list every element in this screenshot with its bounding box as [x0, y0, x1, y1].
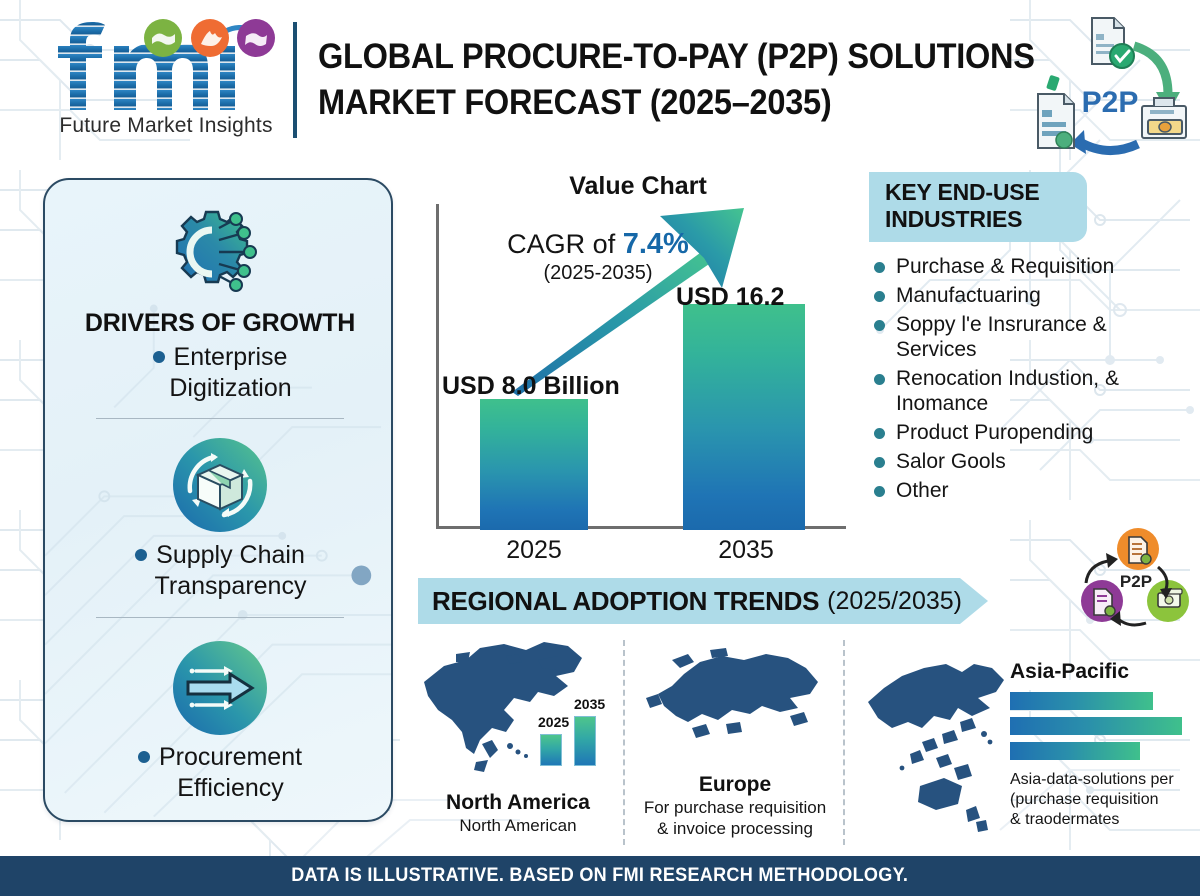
industries-list: Purchase & Requisition Manufactuaring So…	[874, 254, 1160, 503]
asia-pacific-map-icon	[858, 646, 1028, 836]
industries-heading: KEY END-USE INDUSTRIES	[869, 172, 1087, 242]
list-item: Other	[874, 478, 1160, 503]
region-name: Europe	[640, 773, 830, 797]
bar-2025[interactable]	[480, 399, 588, 530]
panel-separator-2	[843, 640, 845, 845]
package-cycle-icon	[170, 435, 270, 535]
list-item: Salor Gools	[874, 449, 1160, 474]
regional-panels: 2025 2035 North America North American	[418, 636, 1200, 851]
value-chart: Value Chart CAGR of 7.4% (2025-2035) USD…	[418, 172, 858, 572]
region-desc-line1: Asia-data-solutions per	[1010, 770, 1200, 790]
regional-adoption-banner: REGIONAL ADOPTION TRENDS (2025/2035)	[418, 578, 988, 624]
driver-icon-0	[45, 204, 393, 305]
driver-icon-1	[45, 435, 393, 540]
cash-icon-small	[1158, 589, 1182, 607]
box-glyph	[198, 465, 242, 509]
panel-separator-1	[623, 640, 625, 845]
mini-bar-label-2025: 2025	[538, 714, 569, 730]
arrows-efficiency-icon	[170, 638, 270, 738]
regional-banner-years: (2025/2035)	[827, 587, 962, 616]
mini-bar-2035[interactable]	[574, 716, 596, 766]
region-north-america: 2025 2035 North America North American	[418, 636, 618, 836]
asia-bar-2[interactable]	[1010, 717, 1182, 735]
region-desc-line1: For purchase requisition	[640, 797, 830, 818]
divider-0	[96, 418, 344, 419]
divider-1	[96, 617, 344, 618]
list-item: Product Puropending	[874, 420, 1160, 445]
bullet-icon	[135, 549, 147, 561]
fmi-logo[interactable]: Future Market Insights	[52, 18, 280, 144]
list-item: Soppy l'e Insrurance & Services	[874, 312, 1160, 362]
cagr-value-line: CAGR of 7.4%	[478, 228, 718, 261]
page-title-line1: GLOBAL PROCURE-TO-PAY (P2P) SOLUTIONS	[318, 34, 1053, 80]
header: Future Market Insights GLOBAL PROCURE-TO…	[0, 0, 1200, 160]
drivers-heading: DRIVERS OF GROWTH	[45, 309, 393, 338]
p2p-label-small: P2P	[1120, 572, 1152, 591]
infographic-root: Future Market Insights GLOBAL PROCURE-TO…	[0, 0, 1200, 896]
cagr-annotation: CAGR of 7.4% (2025-2035)	[478, 228, 718, 285]
bar-category-2025: 2025	[462, 536, 606, 565]
driver-label-0: Enterprise Digitization	[45, 342, 393, 404]
page-title-line2: MARKET FORECAST (2025–2035)	[318, 80, 1053, 126]
asia-bar-3[interactable]	[1010, 742, 1140, 760]
key-end-use-industries: KEY END-USE INDUSTRIES Purchase & Requis…	[860, 172, 1160, 507]
bar-2035[interactable]	[683, 304, 805, 530]
driver-label-2: Procurement Efficiency	[45, 742, 393, 804]
driver-icon-2	[45, 638, 393, 743]
document-check-icon	[1092, 18, 1134, 68]
gear-network-icon	[166, 204, 274, 300]
fmi-logo-mark	[52, 18, 280, 114]
fmi-logo-tagline: Future Market Insights	[52, 114, 280, 138]
mini-bar-2025[interactable]	[540, 734, 562, 766]
bullet-icon	[153, 351, 165, 363]
list-item: Manufactuaring	[874, 283, 1160, 308]
list-item: Renocation Industion, & Inomance	[874, 366, 1160, 416]
drivers-of-growth-card: DRIVERS OF GROWTH Enterprise Digitizatio…	[43, 178, 393, 822]
region-desc: North American	[418, 815, 618, 836]
industries-heading-line1: KEY END-USE	[885, 179, 1073, 206]
region-desc-line2: & invoice processing	[640, 818, 830, 839]
header-divider	[293, 22, 297, 138]
bar-value-label-2025: USD 8.0 Billion	[442, 372, 620, 401]
purchase-order-icon	[1038, 94, 1074, 148]
region-europe: Europe For purchase requisition & invoic…	[640, 642, 830, 839]
region-name: North America	[418, 791, 618, 815]
bar-category-2035: 2035	[674, 536, 818, 565]
cagr-value: 7.4%	[623, 228, 689, 260]
footer-note: DATA IS ILLUSTRATIVE. BASED ON FMI RESEA…	[292, 865, 909, 887]
list-item: Purchase & Requisition	[874, 254, 1160, 279]
chart-y-axis	[436, 204, 439, 529]
driver-label-1: Supply Chain Transparency	[45, 540, 393, 602]
asia-bar-1[interactable]	[1010, 692, 1153, 710]
footer-bar: DATA IS ILLUSTRATIVE. BASED ON FMI RESEA…	[0, 856, 1200, 896]
bar-value-label-2035: USD 16.2	[676, 283, 784, 312]
regional-banner-title: REGIONAL ADOPTION TRENDS	[418, 586, 819, 617]
p2p-cycle-icon-top: P2P	[1026, 12, 1194, 164]
cagr-period: (2025-2035)	[478, 262, 718, 285]
bullet-icon	[138, 751, 150, 763]
cash-register-icon	[1142, 98, 1186, 138]
europe-asia-map-icon	[640, 642, 830, 764]
p2p-cycle-icon-mid: P2P	[1080, 525, 1192, 631]
region-name: Asia-Pacific	[1010, 660, 1200, 684]
p2p-label: P2P	[1082, 86, 1139, 119]
industries-heading-line2: INDUSTRIES	[885, 206, 1073, 233]
region-desc-line2: (purchase requisition	[1010, 790, 1200, 810]
region-desc-line3: & traodermates	[1010, 810, 1200, 830]
chart-title: Value Chart	[418, 172, 858, 201]
page-title: GLOBAL PROCURE-TO-PAY (P2P) SOLUTIONS MA…	[318, 34, 1053, 126]
mini-bar-label-2035: 2035	[574, 696, 605, 712]
